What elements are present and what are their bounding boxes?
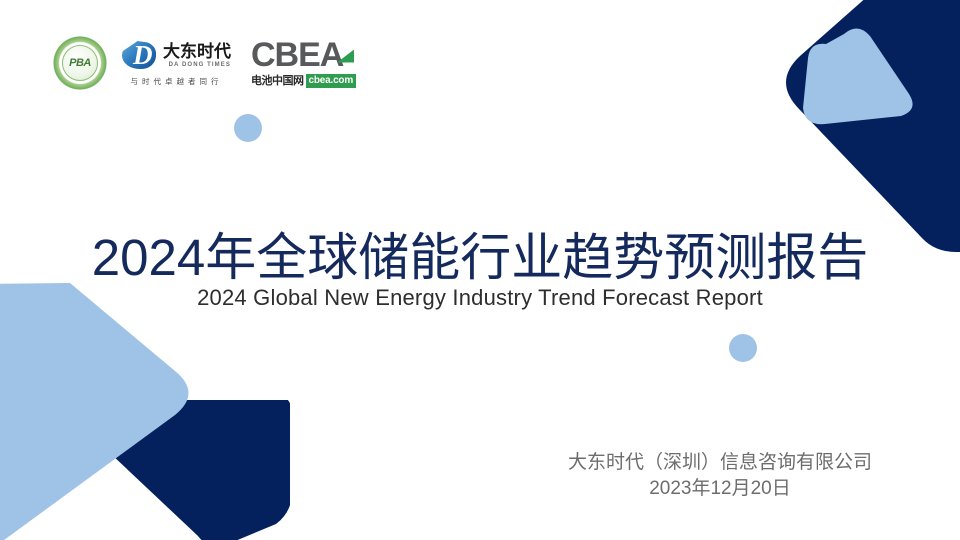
- dadong-name-cn: 大东时代: [163, 42, 231, 61]
- dadong-swoosh-icon: D: [122, 39, 158, 71]
- page-title-cn: 2024年全球储能行业趋势预测报告: [0, 216, 960, 290]
- dadong-wordmark: 大东时代 DA DONG TIMES: [163, 42, 231, 68]
- cbea-wordmark: CBEA: [251, 39, 356, 71]
- footer-date: 2023年12月20日: [520, 476, 920, 502]
- dadong-name-en: DA DONG TIMES: [163, 62, 231, 68]
- cbea-wordmark-text: CBEA: [251, 36, 343, 74]
- title-slide: PBA D 大东时代 DA DONG TIMES 与时代卓越者同行 CBEA: [0, 0, 960, 540]
- cbea-name-cn: 电池中国网: [251, 74, 304, 88]
- light-blue-dot-middle: [729, 334, 757, 362]
- light-blue-triangle-top-right-shape: [800, 22, 915, 127]
- cbea-url: cbea.com: [306, 74, 357, 88]
- cbea-logo: CBEA 电池中国网 cbea.com: [251, 35, 356, 91]
- footer-company-name: 大东时代（深圳）信息咨询有限公司: [520, 450, 920, 476]
- pba-seal-logo: PBA: [52, 35, 108, 91]
- light-blue-arrow-bottom-left-shape: [0, 275, 190, 540]
- dadong-mark-letter: D: [133, 41, 153, 69]
- logo-bar: PBA D 大东时代 DA DONG TIMES 与时代卓越者同行 CBEA: [52, 33, 356, 93]
- dadong-times-logo-main: D 大东时代 DA DONG TIMES: [122, 39, 231, 71]
- dadong-slogan: 与时代卓越者同行: [122, 76, 231, 87]
- pba-seal-inner: PBA: [62, 45, 98, 81]
- dadong-times-logo: D 大东时代 DA DONG TIMES 与时代卓越者同行: [122, 35, 231, 91]
- footer: 大东时代（深圳）信息咨询有限公司 2023年12月20日: [520, 450, 920, 502]
- cbea-subtitle: 电池中国网 cbea.com: [251, 74, 356, 88]
- pba-seal-label: PBA: [69, 58, 91, 69]
- light-blue-dot-upper: [234, 114, 262, 142]
- page-subtitle-en: 2024 Global New Energy Industry Trend Fo…: [0, 285, 960, 311]
